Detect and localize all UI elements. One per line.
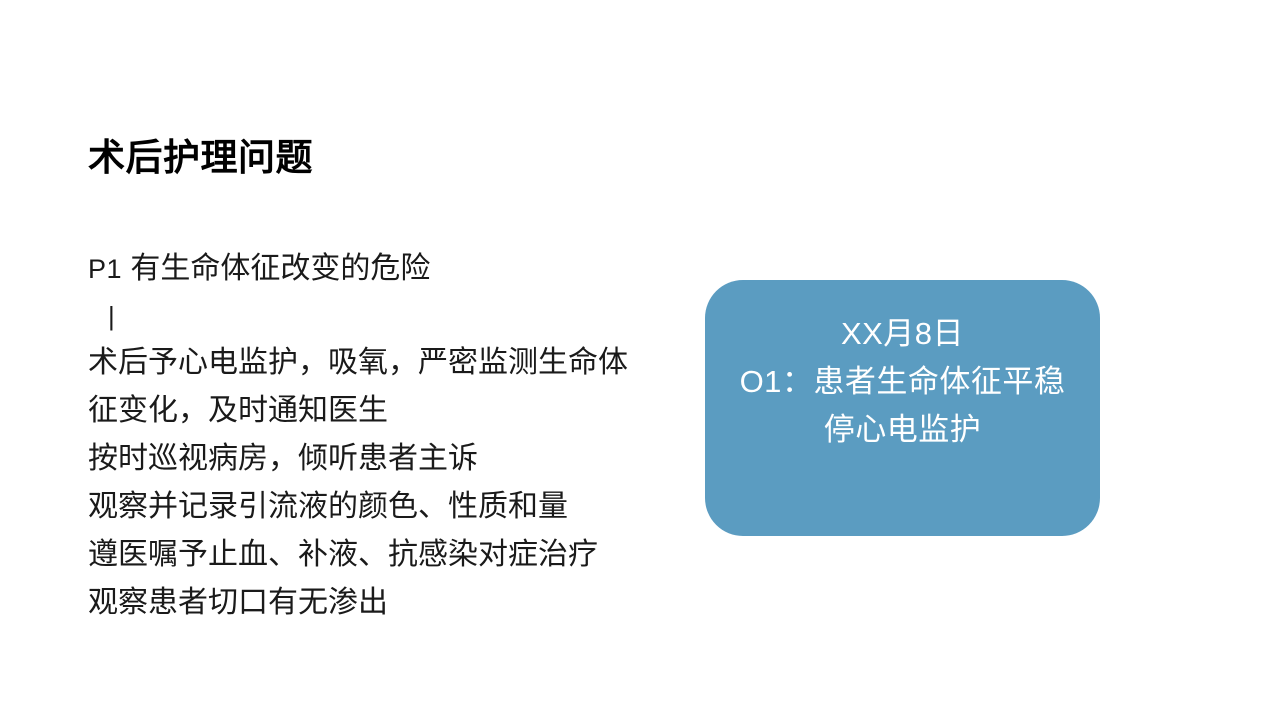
outcome-action: 停心电监护 bbox=[824, 406, 982, 454]
slide-canvas: 术后护理问题 P1 有生命体征改变的危险 | 术后予心电监护，吸氧，严密监测生命… bbox=[0, 0, 1280, 720]
outcome-statement: O1：患者生命体征平稳 bbox=[740, 358, 1066, 406]
outcome-card: XX月8日 O1：患者生命体征平稳 停心电监护 bbox=[705, 280, 1100, 536]
intervention-item: 按时巡视病房，倾听患者主诉 bbox=[88, 435, 668, 483]
page-title: 术后护理问题 bbox=[88, 137, 313, 180]
intervention-item: 观察并记录引流液的颜色、性质和量 bbox=[88, 483, 668, 531]
problem-tag: P1 bbox=[88, 254, 122, 284]
outcome-date: XX月8日 bbox=[841, 310, 964, 358]
intervention-item: 术后予心电监护，吸氧，严密监测生命体征变化，及时通知医生 bbox=[88, 339, 648, 435]
problem-separator: | bbox=[88, 293, 668, 339]
nursing-problem-block: P1 有生命体征改变的危险 | 术后予心电监护，吸氧，严密监测生命体征变化，及时… bbox=[88, 245, 668, 627]
problem-statement: P1 有生命体征改变的危险 bbox=[88, 245, 668, 293]
problem-text: 有生命体征改变的危险 bbox=[130, 252, 430, 285]
intervention-item: 观察患者切口有无渗出 bbox=[88, 579, 668, 627]
intervention-item: 遵医嘱予止血、补液、抗感染对症治疗 bbox=[88, 531, 668, 579]
